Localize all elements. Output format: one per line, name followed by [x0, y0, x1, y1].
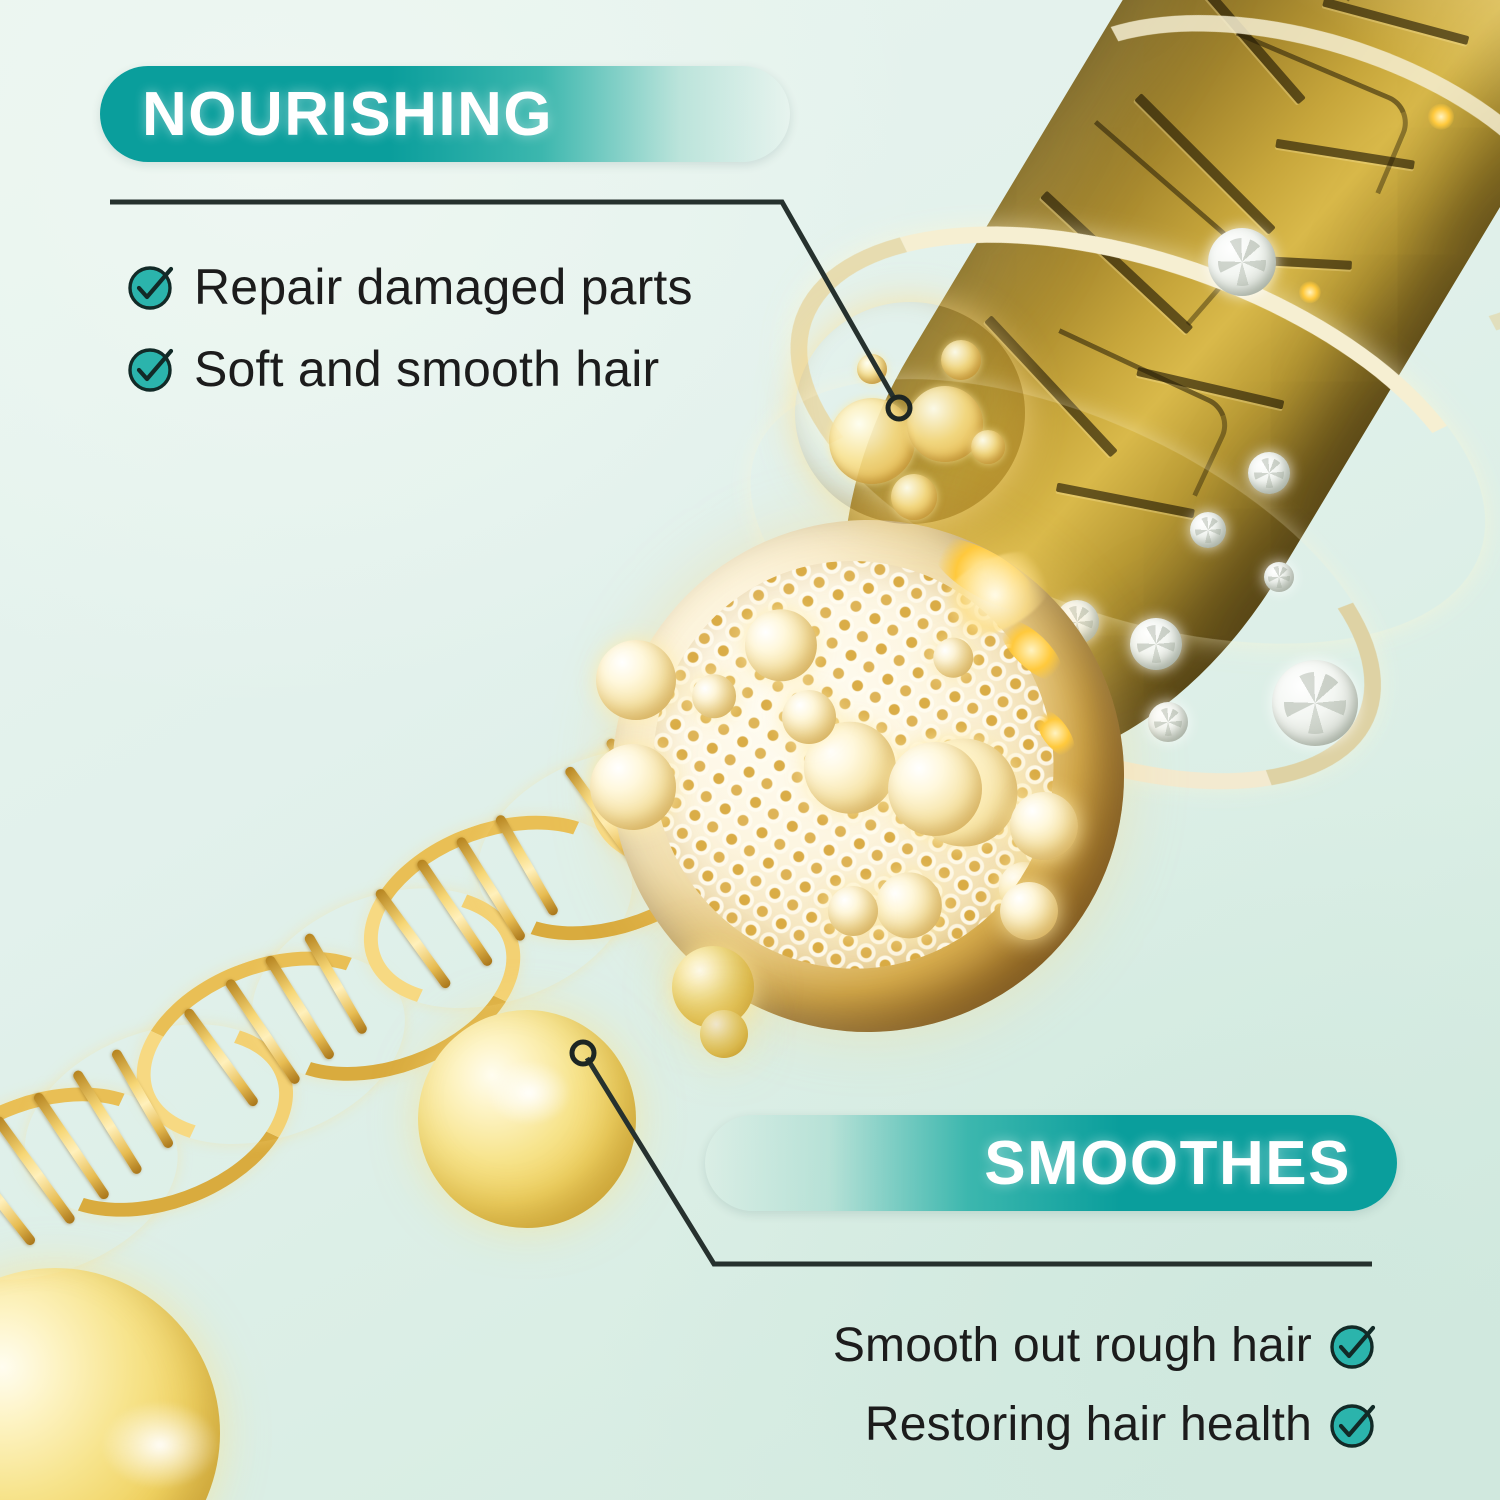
product-infographic: NOURISHING SMOOTHES Repair damaged parts…	[0, 0, 1500, 1500]
check-circle-icon	[1328, 1320, 1380, 1372]
crystal-bead	[1130, 618, 1182, 670]
feature-item: Repair damaged parts	[126, 258, 693, 316]
droplet-inner-bubble	[941, 340, 981, 380]
oil-droplet	[795, 302, 1025, 524]
droplet-inner-bubble	[971, 430, 1005, 464]
artwork-layer	[0, 0, 1500, 1500]
droplet-inner-bubble	[829, 398, 915, 484]
sphere-highlight	[486, 1060, 572, 1126]
feature-item: Restoring hair health	[790, 1397, 1380, 1452]
feature-label: Smooth out rough hair	[833, 1318, 1312, 1373]
glow-bubble	[596, 640, 676, 720]
check-circle-icon	[126, 261, 178, 313]
check-circle-icon	[126, 343, 178, 395]
crystal-bead	[1272, 660, 1358, 746]
droplet-inner-bubble	[857, 354, 887, 384]
feature-label: Soft and smooth hair	[194, 340, 659, 398]
crystal-bead	[1248, 452, 1290, 494]
feature-label: Repair damaged parts	[194, 258, 693, 316]
feature-item: Soft and smooth hair	[126, 340, 693, 398]
banner-nourishing: NOURISHING	[100, 66, 790, 162]
glow-bubble	[1010, 792, 1078, 860]
oil-droplet-small	[700, 1010, 748, 1058]
crystal-bead	[1148, 702, 1188, 742]
glow-bubble	[590, 744, 676, 830]
feature-label: Restoring hair health	[865, 1397, 1312, 1452]
crystal-bead	[1264, 562, 1294, 592]
glow-bubble	[828, 886, 878, 936]
crystal-bead	[1190, 512, 1226, 548]
banner-smoothes: SMOOTHES	[705, 1115, 1397, 1211]
feature-item: Smooth out rough hair	[790, 1318, 1380, 1373]
banner-smoothes-label: SMOOTHES	[984, 1128, 1351, 1199]
banner-nourishing-label: NOURISHING	[142, 79, 553, 150]
check-circle-icon	[1328, 1399, 1380, 1451]
glow-bubble	[1000, 882, 1058, 940]
feature-list-smoothes: Smooth out rough hair Restoring hair hea…	[790, 1318, 1380, 1476]
crystal-bead	[1208, 228, 1276, 296]
droplet-inner-bubble	[891, 474, 937, 520]
glow-bubble	[888, 742, 982, 836]
glow-bubble	[782, 690, 836, 744]
feature-list-nourishing: Repair damaged parts Soft and smooth hai…	[126, 258, 693, 422]
